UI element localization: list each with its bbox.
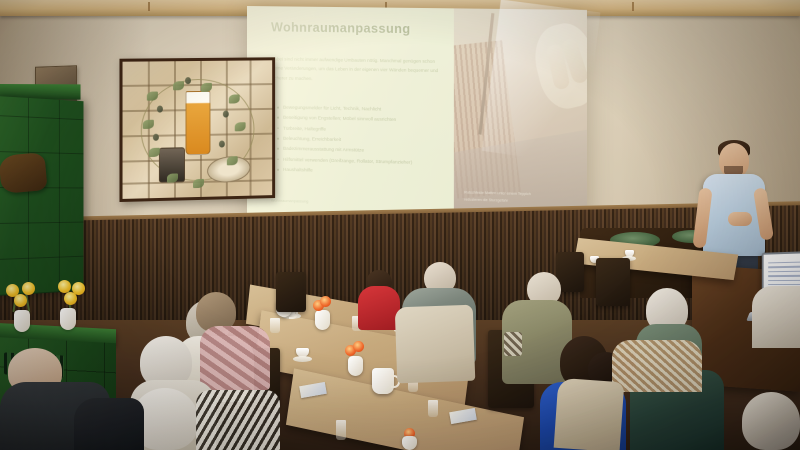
grape-motif <box>223 111 229 118</box>
slide-photo: Rutschfeste Matten unter einem Teppich r… <box>454 8 587 223</box>
drinking-glass <box>270 318 280 333</box>
yellow-bloom <box>22 282 35 295</box>
stove-carving <box>0 152 48 194</box>
presenter-hand <box>728 212 752 226</box>
drinking-glass <box>428 400 438 417</box>
presentation-slide: Wohnraumanpassung Dabei sind nicht immer… <box>247 6 587 223</box>
flower-vase <box>315 310 330 330</box>
presentation-room-photo: Wohnraumanpassung Dabei sind nicht immer… <box>0 0 800 450</box>
projection-screen: Wohnraumanpassung Dabei sind nicht immer… <box>247 6 587 223</box>
coffee-pot <box>372 368 394 394</box>
beer-glass-motif <box>186 91 211 155</box>
slide-paragraph: Dabei sind nicht immer aufwendige Umbaut… <box>271 54 444 85</box>
stained-glass-panel <box>123 60 273 199</box>
stove-flower-arrangement <box>0 282 116 338</box>
vine-leaf <box>193 179 204 188</box>
grape-motif <box>153 134 159 141</box>
slide-bullet-list: Bewegungsmelder für Licht, Technik, Nach… <box>277 103 465 180</box>
grape-motif <box>185 77 191 84</box>
chair-back <box>596 258 630 306</box>
audience-head <box>742 392 800 450</box>
audience-patterned-shawl <box>196 390 280 450</box>
flower <box>353 341 364 352</box>
white-vase <box>60 308 76 330</box>
audience-shoulder-right <box>752 286 800 348</box>
flower <box>320 296 331 307</box>
white-vase <box>14 310 30 332</box>
audience-beige-coat <box>554 378 625 450</box>
audience-body <box>358 286 400 330</box>
flower-vase <box>348 356 363 376</box>
audience-shoulder-dark <box>74 398 144 450</box>
vest-pattern-patch <box>504 332 522 356</box>
stained-glass-window <box>119 57 275 202</box>
beam-nail <box>148 2 150 11</box>
slide-photo-caption: Rutschfeste Matten unter einem Teppich r… <box>464 190 557 206</box>
chair-back <box>276 272 306 312</box>
grape-motif <box>157 106 163 113</box>
stove-column <box>0 96 83 296</box>
audience-patterned-blouse <box>612 340 702 392</box>
saucer <box>293 356 312 362</box>
beam-nail <box>632 2 634 11</box>
tiled-stove <box>0 96 112 386</box>
slide-footer: Wohnraumanpassung <box>271 199 308 204</box>
yellow-bloom <box>14 294 27 307</box>
drinking-glass <box>336 420 346 440</box>
audience-jacket-on-chair <box>395 305 476 384</box>
slide-title: Wohnraumanpassung <box>271 20 411 36</box>
audience-body <box>200 326 270 390</box>
yellow-bloom <box>64 292 77 305</box>
